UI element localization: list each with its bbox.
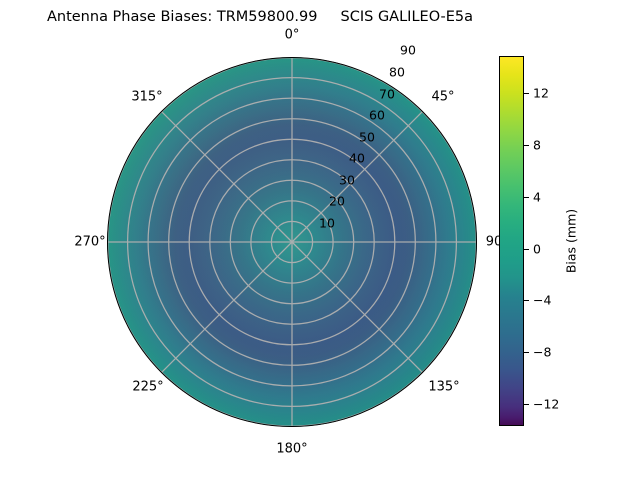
r-tick-label-60: 60: [369, 108, 385, 123]
colorbar-ticklabel-m12: −12: [533, 397, 559, 412]
r-tick-label-40: 40: [349, 151, 365, 166]
colorbar-tick-m4: [524, 300, 529, 301]
colorbar-ticklabel-m4: −4: [533, 293, 551, 308]
theta-tick-label-270: 270°: [74, 235, 105, 250]
colorbar-tick-8: [524, 145, 529, 146]
colorbar-ticklabel-4: 4: [533, 190, 541, 205]
spoke-135: [292, 242, 423, 373]
figure-canvas: Antenna Phase Biases: TRM59800.99 SCIS G…: [0, 0, 640, 480]
theta-tick-label-225: 225°: [132, 380, 163, 395]
colorbar-ticklabel-m8: −8: [533, 345, 551, 360]
polar-axes[interactable]: 10 20 30 40 50 60 70 80 90 0° 45° 90 135…: [107, 57, 477, 427]
colorbar-tick-4: [524, 197, 529, 198]
theta-tick-label-180: 180°: [276, 442, 307, 457]
polar-grid: [107, 57, 477, 427]
r-tick-label-30: 30: [339, 173, 355, 188]
r-tick-label-20: 20: [329, 194, 345, 209]
colorbar-ticklabel-12: 12: [533, 86, 549, 101]
colorbar-tick-m8: [524, 352, 529, 353]
page-title: Antenna Phase Biases: TRM59800.99 SCIS G…: [0, 9, 520, 25]
r-tick-label-10: 10: [319, 216, 335, 231]
colorbar-tick-0: [524, 249, 529, 250]
theta-tick-label-45: 45°: [431, 90, 454, 105]
colorbar-ticklabel-8: 8: [533, 138, 541, 153]
spoke-45: [292, 111, 423, 242]
spoke-315: [161, 111, 292, 242]
colorbar-ticklabel-0: 0: [533, 242, 541, 257]
colorbar-axis-label: Bias (mm): [564, 209, 579, 273]
r-tick-label-80: 80: [389, 65, 405, 80]
r-tick-label-50: 50: [359, 130, 375, 145]
colorbar-tick-12: [524, 93, 529, 94]
spoke-225: [161, 242, 292, 373]
theta-tick-label-135: 135°: [428, 380, 459, 395]
theta-tick-label-0: 0°: [285, 28, 300, 43]
r-tick-label-70: 70: [379, 87, 395, 102]
colorbar[interactable]: 12 8 4 0 −4 −8 −12 Bias (mm): [499, 56, 619, 428]
theta-tick-label-315: 315°: [131, 90, 162, 105]
colorbar-gradient: [499, 56, 524, 426]
r-tick-label-90: 90: [400, 43, 416, 58]
polar-heatmap: [107, 57, 477, 427]
colorbar-tick-m12: [524, 404, 529, 405]
